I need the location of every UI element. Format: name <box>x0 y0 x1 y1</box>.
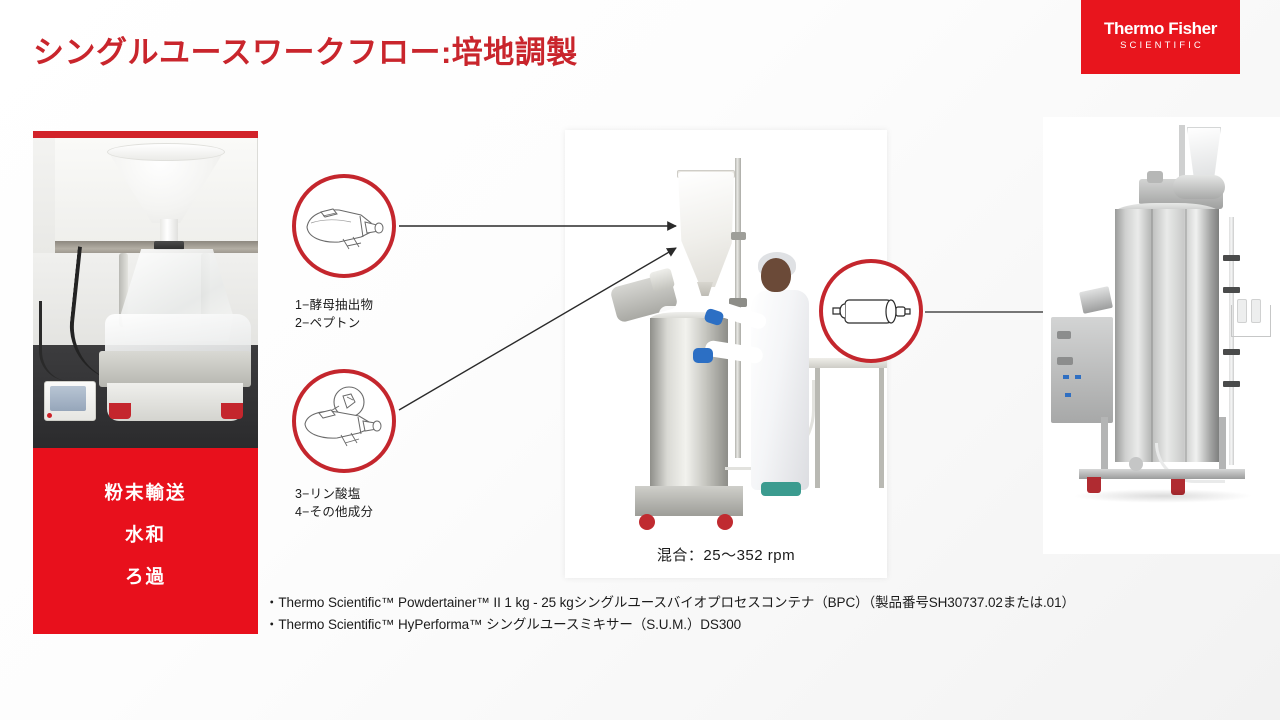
sample-bottle-2 <box>1251 299 1261 323</box>
label-peptone: 2−ペプトン <box>295 314 373 332</box>
control-led-3 <box>1065 393 1071 397</box>
mixer-caster-right <box>717 514 733 530</box>
operator-shoe-cover <box>761 482 801 496</box>
yeast-peptone-labels: 1−酵母抽出物 2−ペプトン <box>295 296 373 332</box>
phosphate-other-labels: 3−リン酸塩 4−その他成分 <box>295 485 373 521</box>
caption-line-1: 粉末輸送 <box>104 479 186 505</box>
powder-bag-icon <box>303 197 385 255</box>
operator-head <box>761 258 791 292</box>
control-led-2 <box>1075 375 1081 379</box>
page-title: シングルユースワークフロー:培地調製 <box>33 27 578 72</box>
thermo-fisher-logo: Thermo Fisher SCIENTIFIC <box>1081 0 1240 74</box>
sum-mixer-photo-panel <box>1043 117 1280 554</box>
operator-glove-lower <box>693 348 713 363</box>
weighing-scale-platform <box>99 351 251 387</box>
powder-bag-icon-badge[interactable] <box>292 174 396 278</box>
filter-capsule-icon-badge[interactable] <box>819 259 923 363</box>
scale-foot-right <box>221 403 243 419</box>
tubing-clip-1 <box>1223 255 1240 261</box>
tank-seam-left <box>1151 209 1153 462</box>
footnote-hyperforma: ・Thermo Scientific™ HyPerforma™ シングルユースミ… <box>265 614 1255 636</box>
scale-foot-left <box>109 403 131 419</box>
logo-wordmark: Thermo Fisher <box>1104 20 1217 38</box>
balance-screen <box>50 386 86 411</box>
photo-top-accent-bar <box>33 131 258 138</box>
control-button-1 <box>1057 331 1071 339</box>
bag-discharge-nozzle <box>697 282 713 296</box>
mill-cylinder <box>1173 175 1225 199</box>
powder-bag-detail-icon-badge[interactable] <box>292 369 396 473</box>
mill-knob <box>1147 171 1163 183</box>
funnel-clamp <box>154 241 184 250</box>
tubing-clip-4 <box>1223 381 1240 387</box>
powder-transfer-photo <box>33 131 258 448</box>
sample-bottle-1 <box>1237 299 1247 323</box>
footnotes: ・Thermo Scientific™ Powdertainer™ II 1 k… <box>265 592 1255 636</box>
filter-capsule-icon <box>829 291 913 331</box>
slide-canvas: Thermo Fisher SCIENTIFIC シングルユースワークフロー:培… <box>0 0 1280 720</box>
mixer-caster-center <box>1129 457 1143 471</box>
floor-shadow <box>1073 489 1253 503</box>
suspended-powder-bag <box>678 172 734 287</box>
frame-base <box>1079 469 1245 479</box>
balance-display <box>44 381 96 421</box>
balance-indicator-led <box>47 413 52 418</box>
caption-line-2: 水和 <box>125 521 166 547</box>
logo-tagline: SCIENTIFIC <box>1120 40 1204 51</box>
frame-leg-right <box>1219 417 1226 475</box>
pole-clamp-upper <box>731 232 746 240</box>
powder-funnel-rim <box>107 143 225 161</box>
tubing-clip-3 <box>1223 349 1240 355</box>
hmi-screen <box>1079 286 1113 314</box>
tubing-clip-2 <box>1223 287 1240 293</box>
caption-line-3: ろ過 <box>125 563 166 589</box>
powder-transfer-panel: 粉末輸送 水和 ろ過 <box>33 131 258 634</box>
label-other-components: 4−その他成分 <box>295 503 373 521</box>
powder-bag-detail-icon <box>303 386 385 456</box>
mixer-base <box>635 486 743 516</box>
mixing-speed-caption: 混合：25〜352 rpm <box>565 530 887 578</box>
lab-table-leg-right <box>879 368 884 488</box>
frame-leg-left <box>1101 417 1108 475</box>
control-led-1 <box>1063 375 1069 379</box>
tank-seam-right <box>1185 209 1187 462</box>
label-phosphate: 3−リン酸塩 <box>295 485 373 503</box>
mixing-photo-panel: 混合：25〜352 rpm <box>565 130 887 578</box>
label-yeast-extract: 1−酵母抽出物 <box>295 296 373 314</box>
mixer-caster-left <box>639 514 655 530</box>
powder-transfer-caption: 粉末輸送 水和 ろ過 <box>33 448 258 634</box>
control-button-2 <box>1057 357 1073 365</box>
lab-table-leg-left <box>815 368 820 488</box>
footnote-powdertainer: ・Thermo Scientific™ Powdertainer™ II 1 k… <box>265 592 1255 614</box>
mixer-tank <box>1115 209 1219 462</box>
